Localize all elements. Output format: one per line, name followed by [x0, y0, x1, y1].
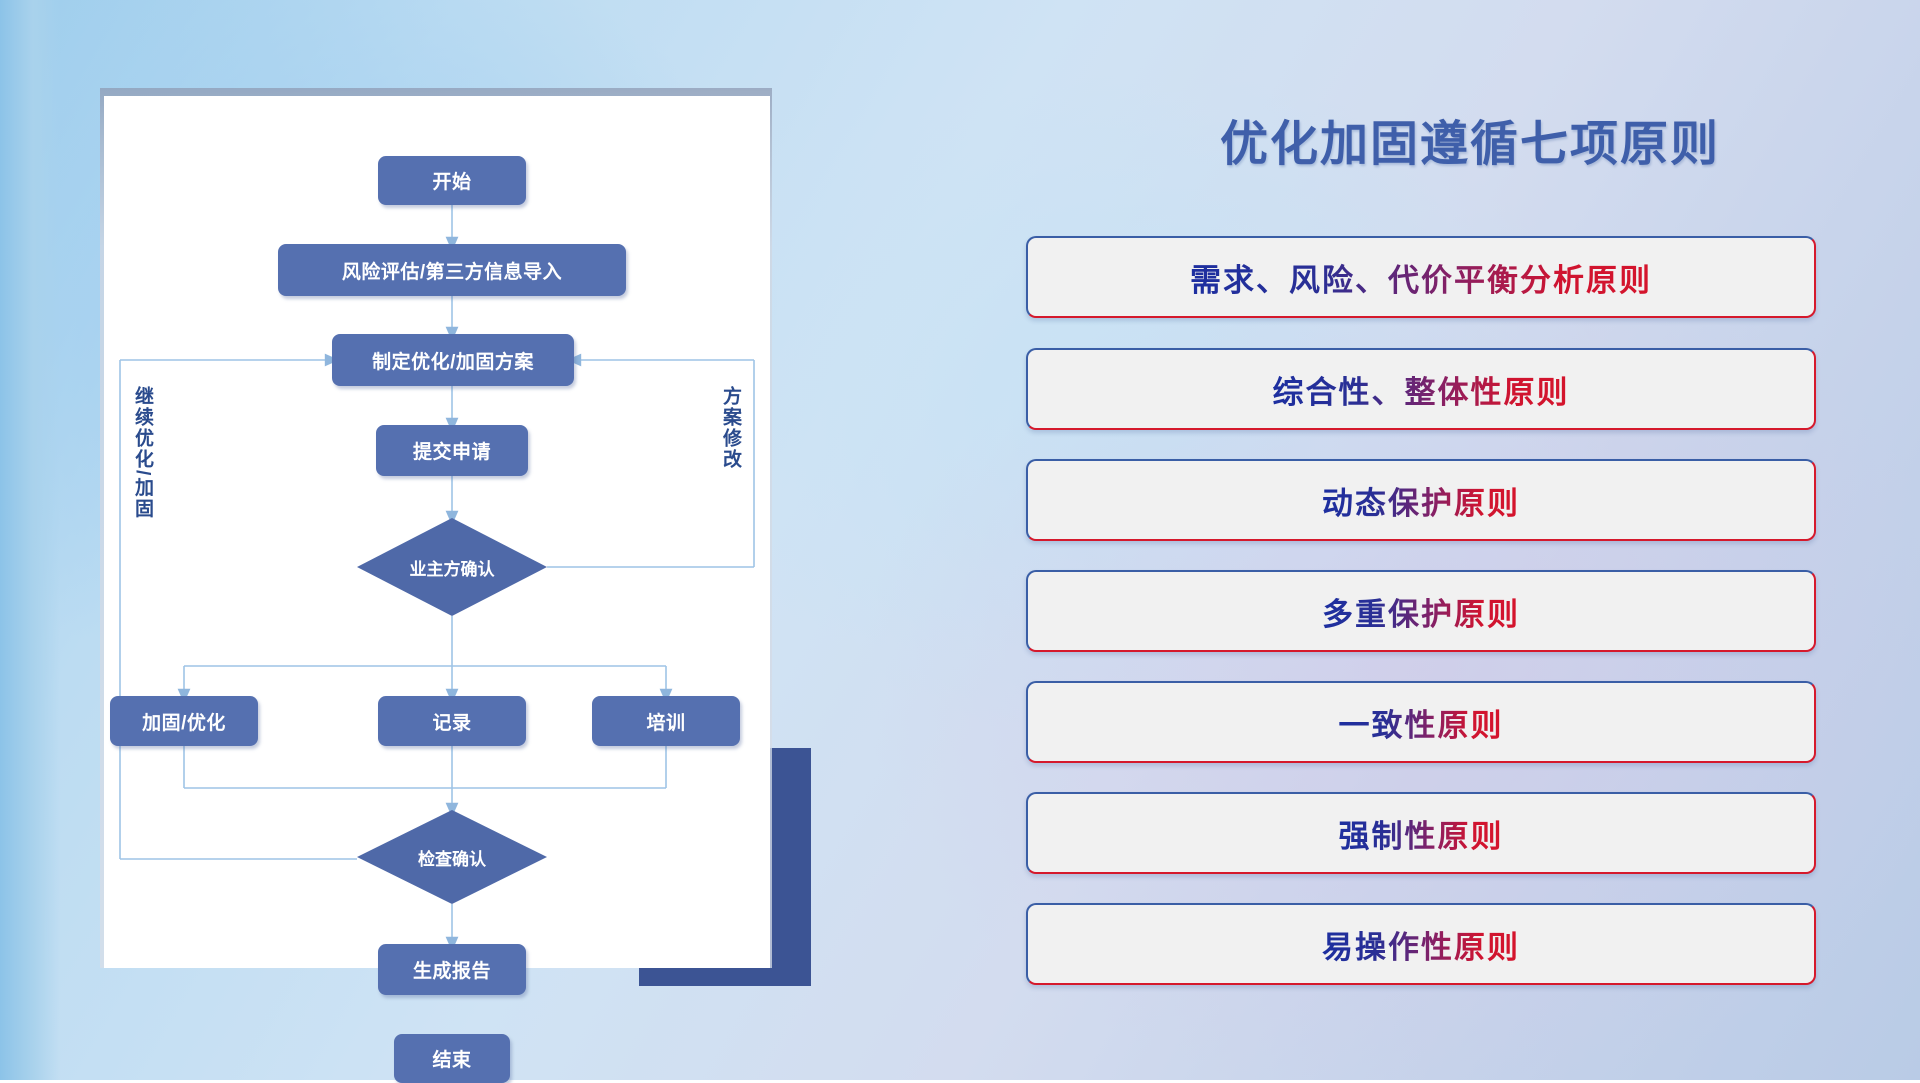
- flow-node-plan[interactable]: 制定优化/加固方案: [332, 334, 574, 386]
- flow-node-risk[interactable]: 风险评估/第三方信息导入: [278, 244, 626, 296]
- flow-decision-check-confirm[interactable]: 检查确认: [357, 810, 547, 904]
- principle-card-7[interactable]: 易操作性原则: [1026, 903, 1816, 985]
- flow-node-reinforce[interactable]: 加固/优化: [110, 696, 258, 746]
- principle-card-2-label: 综合性、整体性原则: [1273, 367, 1570, 412]
- flow-edge-label-right-loop: 方案修改: [720, 386, 740, 470]
- flow-node-reinforce-label: 加固/优化: [142, 708, 226, 735]
- principle-card-7-label: 易操作性原则: [1322, 922, 1520, 967]
- flow-node-start[interactable]: 开始: [378, 156, 526, 205]
- flow-node-record-label: 记录: [432, 708, 471, 735]
- flow-decision-check-confirm-label: 检查确认: [418, 845, 486, 870]
- flow-node-train-label: 培训: [646, 708, 685, 735]
- principle-card-4-label: 多重保护原则: [1322, 589, 1520, 634]
- principle-card-3-label: 动态保护原则: [1322, 478, 1520, 523]
- principle-card-5[interactable]: 一致性原则: [1026, 681, 1816, 763]
- flow-node-report[interactable]: 生成报告: [378, 944, 526, 995]
- principle-card-4[interactable]: 多重保护原则: [1026, 570, 1816, 652]
- flow-node-report-label: 生成报告: [413, 956, 491, 983]
- flow-node-record[interactable]: 记录: [378, 696, 526, 746]
- principles-panel-title: 优化加固遵循七项原则: [1150, 104, 1790, 174]
- flow-node-submit-label: 提交申请: [413, 437, 491, 464]
- principle-card-6-label: 强制性原则: [1339, 811, 1504, 856]
- principle-card-6[interactable]: 强制性原则: [1026, 792, 1816, 874]
- flow-node-train[interactable]: 培训: [592, 696, 740, 746]
- flow-node-plan-label: 制定优化/加固方案: [372, 347, 534, 374]
- flow-decision-owner-confirm-label: 业主方确认: [410, 555, 495, 580]
- flow-node-risk-label: 风险评估/第三方信息导入: [342, 257, 562, 284]
- flow-node-end-label: 结束: [432, 1045, 471, 1072]
- principle-card-1[interactable]: 需求、风险、代价平衡分析原则: [1026, 236, 1816, 318]
- flow-node-end[interactable]: 结束: [394, 1034, 510, 1083]
- flowchart-card: 开始 风险评估/第三方信息导入 制定优化/加固方案 提交申请 业主方确认 加固/…: [104, 96, 770, 968]
- principle-card-5-label: 一致性原则: [1339, 700, 1504, 745]
- principle-card-1-label: 需求、风险、代价平衡分析原则: [1190, 255, 1652, 300]
- principle-card-3[interactable]: 动态保护原则: [1026, 459, 1816, 541]
- flow-node-submit[interactable]: 提交申请: [376, 425, 528, 476]
- flow-decision-owner-confirm[interactable]: 业主方确认: [357, 518, 547, 616]
- flow-node-start-label: 开始: [432, 167, 471, 194]
- principle-card-2[interactable]: 综合性、整体性原则: [1026, 348, 1816, 430]
- flow-edge-label-left-loop: 继续优化/加固: [132, 386, 152, 519]
